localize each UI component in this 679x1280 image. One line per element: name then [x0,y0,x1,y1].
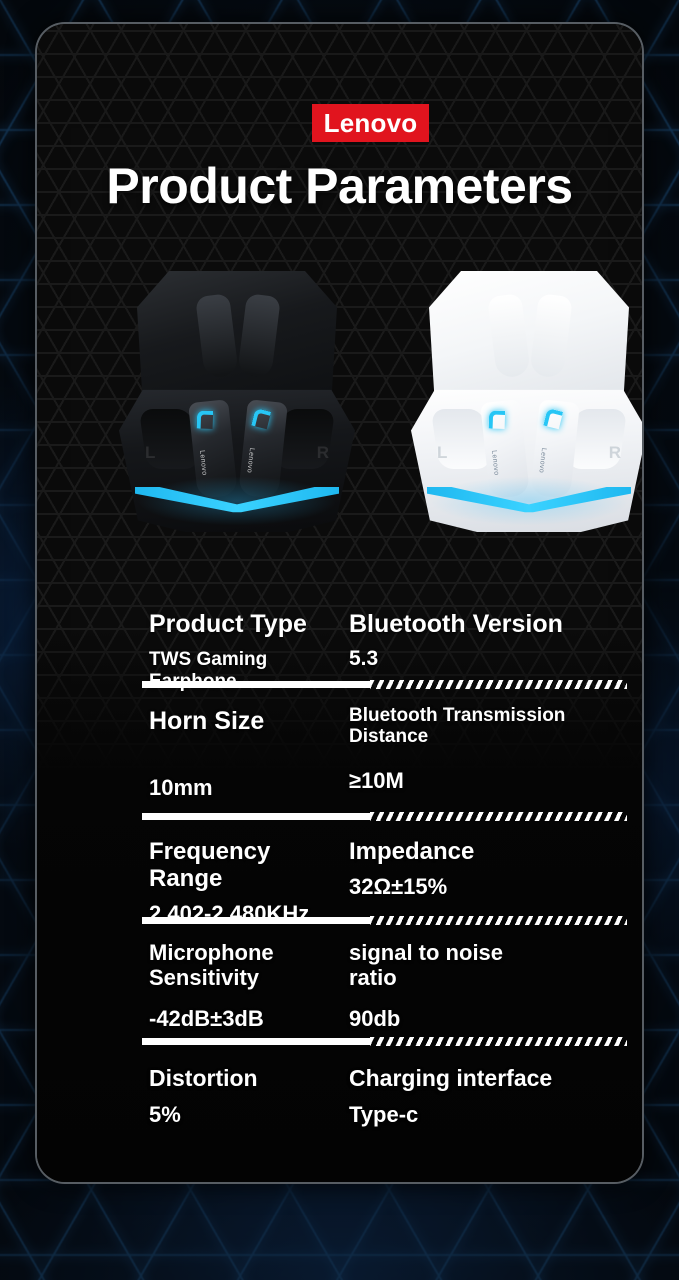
row-divider [142,680,627,689]
eartip-left [487,293,531,379]
spec-label: Horn Size [149,689,318,735]
led-hook-icon [543,408,563,429]
spec-cell-right: Bluetooth Transmission Distance ≥10M [318,689,644,812]
spec-row: Microphone Sensitivity -42dB±3dB signal … [37,925,644,1037]
spec-cell-left: Product Type TWS Gaming Earphone [37,596,318,680]
spec-label: Bluetooth Transmission Distance [349,689,574,748]
spec-label: Microphone Sensitivity [149,925,299,990]
earbud-brand-mark: Lenovo [490,450,500,476]
earbud-brand-mark: Lenovo [245,447,255,473]
spec-label: Charging interface [349,1046,644,1092]
divider-hatch [370,812,627,821]
divider-solid [142,681,370,688]
spec-cell-left: Distortion 5% [37,1046,318,1146]
right-bud-marking: R [609,443,621,463]
spec-row: Frequency Range 2.402-2.480KHz Impedance… [37,821,644,916]
earbud-left: Lenovo [480,399,530,499]
spec-cell-left: Frequency Range 2.402-2.480KHz [37,821,318,916]
spec-row: Product Type TWS Gaming Earphone Bluetoo… [37,596,644,680]
card-content: Lenovo Product Parameters L R [37,24,642,1182]
divider-solid [142,813,370,820]
led-light-strip [135,487,339,517]
spec-value: 10mm [149,735,318,800]
spec-label: Distortion [149,1046,318,1092]
spec-value: 90db [349,990,644,1031]
spec-value: -42dB±3dB [149,990,318,1031]
lenovo-logo-text: Lenovo [324,108,418,139]
spec-table: Product Type TWS Gaming Earphone Bluetoo… [37,596,644,1146]
spec-value: ≥10M [349,748,644,793]
spec-cell-right: Impedance 32Ω±15% [318,821,644,916]
row-divider [142,812,627,821]
spec-label: Product Type [149,596,318,638]
spec-value: 32Ω±15% [349,866,644,899]
spec-label: Impedance [349,821,644,866]
led-hook-icon [251,408,271,429]
spec-value: 5.3 [349,638,644,671]
divider-hatch [370,916,627,925]
page-title: Product Parameters [37,157,642,215]
earbud-brand-mark: Lenovo [198,450,208,476]
black-earbuds-case: L R Lenovo Lenovo [115,269,360,559]
lenovo-logo-badge: Lenovo [312,104,429,142]
earbud-right: Lenovo [238,399,288,499]
product-card: Lenovo Product Parameters L R [35,22,644,1184]
spec-cell-right: Charging interface Type-c [318,1046,644,1146]
eartip-right [529,293,573,379]
case-base: L R Lenovo Lenovo [119,387,355,532]
spec-cell-right: Bluetooth Version 5.3 [318,596,644,680]
led-hook-icon [197,410,214,429]
spec-row: Distortion 5% Charging interface Type-c [37,1046,644,1146]
led-hook-icon [489,410,506,429]
spec-cell-left: Horn Size 10mm [37,689,318,812]
left-bud-marking: L [145,443,155,463]
divider-solid [142,1038,370,1045]
earbud-right: Lenovo [530,399,580,499]
earbud-brand-mark: Lenovo [537,447,547,473]
spec-label: Bluetooth Version [349,596,644,638]
earbud-left: Lenovo [188,399,238,499]
infographic-page: Lenovo Product Parameters L R [0,0,679,1280]
case-base: L R Lenovo Lenovo [411,387,644,532]
divider-solid [142,917,370,924]
spec-value: Type-c [349,1092,644,1127]
spec-cell-right: signal to noise ratio 90db [318,925,644,1037]
led-light-strip [427,487,631,517]
divider-hatch [370,1037,627,1046]
row-divider [142,1037,627,1046]
spec-label: Frequency Range [149,821,318,893]
spec-cell-left: Microphone Sensitivity -42dB±3dB [37,925,318,1037]
spec-row: Horn Size 10mm Bluetooth Transmission Di… [37,689,644,812]
spec-label: signal to noise ratio [349,925,529,990]
eartip-left [195,293,239,379]
left-bud-marking: L [437,443,447,463]
eartip-right [237,293,281,379]
right-bud-marking: R [317,443,329,463]
spec-value: 5% [149,1092,318,1127]
divider-hatch [370,680,627,689]
white-earbuds-case: L R Lenovo Lenovo [407,269,644,559]
product-images: L R Lenovo Lenovo [37,269,644,569]
row-divider [142,916,627,925]
